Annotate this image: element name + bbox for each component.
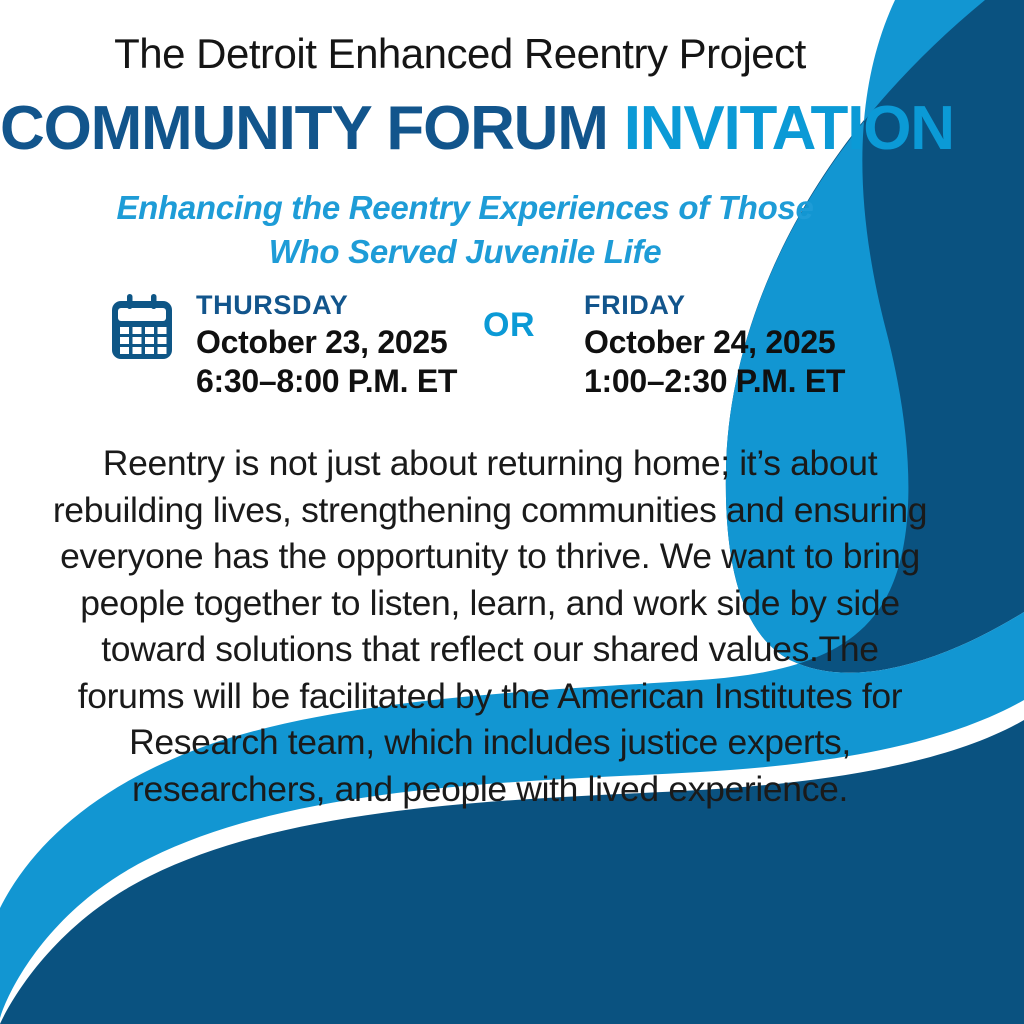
page-title: COMMUNITY FORUM INVITATION	[0, 93, 950, 164]
subtitle-line-1: Enhancing the Reentry Experiences of Tho…	[0, 186, 930, 230]
subtitle-line-2: Who Served Juvenile Life	[0, 230, 930, 274]
session-time: 6:30–8:00 P.M. ET	[196, 365, 457, 397]
headline-accent: INVITATION	[624, 94, 954, 163]
headline-primary: COMMUNITY FORUM	[0, 94, 624, 163]
poster-canvas: The Detroit Enhanced Reentry Project COM…	[0, 0, 1024, 1024]
session-time: 1:00–2:30 P.M. ET	[584, 365, 845, 397]
session-separator: OR	[434, 306, 584, 345]
session-friday: FRIDAY October 24, 2025 1:00–2:30 P.M. E…	[584, 292, 904, 397]
session-thursday: THURSDAY October 23, 2025 6:30–8:00 P.M.…	[104, 292, 434, 397]
project-name: The Detroit Enhanced Reentry Project	[0, 30, 920, 78]
session-day-label: THURSDAY	[196, 292, 457, 319]
subtitle: Enhancing the Reentry Experiences of Tho…	[0, 186, 930, 273]
body-paragraph: Reentry is not just about returning home…	[48, 440, 932, 812]
session-day-label: FRIDAY	[584, 292, 845, 319]
calendar-icon	[104, 292, 180, 364]
session-date: October 23, 2025	[196, 326, 457, 358]
session-date: October 24, 2025	[584, 326, 845, 358]
session-list: THURSDAY October 23, 2025 6:30–8:00 P.M.…	[104, 292, 904, 397]
